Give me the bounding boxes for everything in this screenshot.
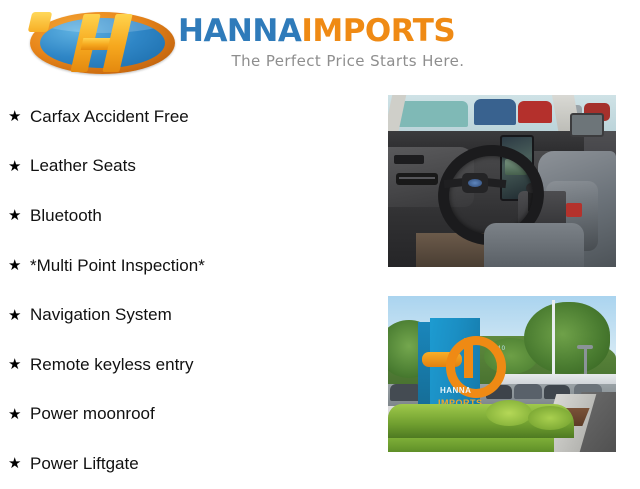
list-item: ★ Navigation System: [0, 290, 380, 340]
star-bullet-icon: ★: [8, 357, 30, 372]
brand-tagline: The Perfect Price Starts Here.: [178, 52, 518, 70]
wordmark-imports: IMPORTS: [301, 13, 455, 49]
star-bullet-icon: ★: [8, 407, 30, 422]
star-bullet-icon: ★: [8, 159, 30, 174]
sign-h-stroke-icon: [464, 338, 473, 378]
brand-text-block: HANNAIMPORTS The Perfect Price Starts He…: [178, 14, 518, 70]
list-item: ★ *Multi Point Inspection*: [0, 241, 380, 291]
side-mirror: [570, 113, 604, 137]
feature-label: Remote keyless entry: [30, 355, 193, 375]
feature-label: Navigation System: [30, 305, 172, 325]
air-vent-upper: [394, 155, 424, 164]
feature-label: *Multi Point Inspection*: [30, 256, 205, 276]
brand-header: HANNAIMPORTS The Perfect Price Starts He…: [0, 0, 640, 88]
shrub-a: [486, 400, 532, 426]
feature-label: Power moonroof: [30, 404, 155, 424]
hanna-oval-h-logo-icon: [30, 12, 175, 74]
feature-label: Carfax Accident Free: [30, 107, 189, 127]
star-bullet-icon: ★: [8, 208, 30, 223]
list-item: ★ Carfax Accident Free: [0, 92, 380, 142]
sign-text-hanna: HANNA: [440, 386, 471, 395]
dealership-sign-photo[interactable]: 310 HANNA IMPORTS: [388, 296, 616, 452]
parked-car-red: [518, 101, 552, 123]
list-item: ★ Bluetooth: [0, 191, 380, 241]
feature-label: Power Liftgate: [30, 454, 139, 474]
vehicle-interior-photo[interactable]: [388, 95, 616, 267]
feature-label: Bluetooth: [30, 206, 102, 226]
air-vent-lower: [396, 173, 438, 185]
list-item: ★ Power moonroof: [0, 390, 380, 440]
lot-car-4: [514, 384, 542, 399]
star-bullet-icon: ★: [8, 258, 30, 273]
list-item: ★ Leather Seats: [0, 142, 380, 192]
star-bullet-icon: ★: [8, 109, 30, 124]
feature-label: Leather Seats: [30, 156, 136, 176]
driver-seat: [484, 223, 584, 267]
tree-large: [524, 302, 610, 374]
shrub-b: [528, 406, 572, 430]
parked-car-blue: [474, 99, 516, 125]
wordmark-hanna: HANNA: [178, 13, 301, 49]
vehicle-feature-list: ★ Carfax Accident Free ★ Leather Seats ★…: [0, 92, 380, 489]
star-bullet-icon: ★: [8, 308, 30, 323]
star-bullet-icon: ★: [8, 456, 30, 471]
wordmark: HANNAIMPORTS: [178, 14, 518, 48]
seat-belt-buckle: [566, 203, 582, 217]
parked-car-teal: [394, 101, 468, 127]
steering-wheel-badge: [462, 173, 488, 193]
list-item: ★ Power Liftgate: [0, 439, 380, 489]
list-item: ★ Remote keyless entry: [0, 340, 380, 390]
